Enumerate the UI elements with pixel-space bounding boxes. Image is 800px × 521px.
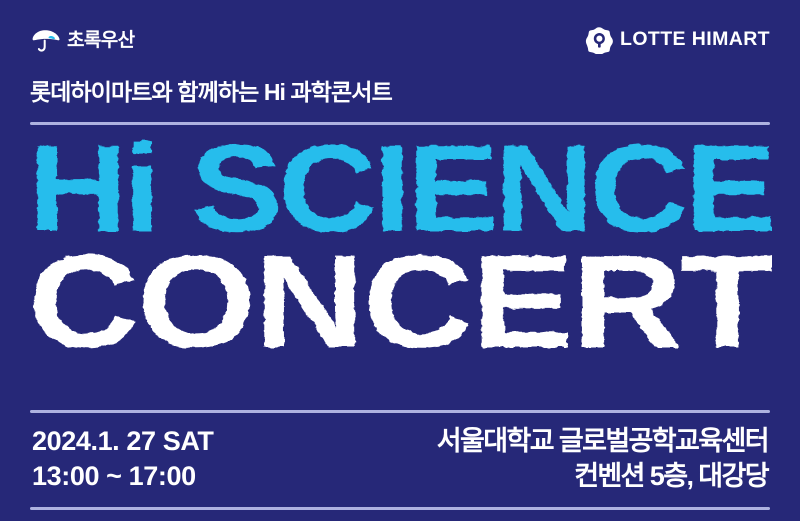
- lotte-himart-mark-icon: [585, 26, 613, 54]
- event-time: 13:00 ~ 17:00: [32, 459, 214, 494]
- event-date: 2024.1. 27 SAT: [32, 424, 214, 459]
- event-venue-line-2: 컨벤션 5층, 대강당: [437, 459, 768, 494]
- svg-text:Hi SCIENCE: Hi SCIENCE: [28, 133, 772, 251]
- event-poster: 초록우산 LOTTE HIMART 롯데하이마트와 함께하는 Hi 과학콘서트 …: [0, 0, 800, 521]
- event-datetime: 2024.1. 27 SAT 13:00 ~ 17:00: [32, 424, 214, 493]
- green-umbrella-logo-text: 초록우산: [67, 31, 135, 50]
- poster-footer: 2024.1. 27 SAT 13:00 ~ 17:00 서울대학교 글로벌공학…: [32, 424, 768, 500]
- green-umbrella-logo: 초록우산: [30, 27, 135, 53]
- green-umbrella-icon: [30, 27, 60, 53]
- logo-row: 초록우산 LOTTE HIMART: [30, 22, 770, 58]
- divider-middle: [30, 410, 770, 413]
- lotte-himart-logo-text: LOTTE HIMART: [620, 30, 770, 50]
- svg-text:CONCERT: CONCERT: [28, 245, 772, 367]
- poster-subtitle: 롯데하이마트와 함께하는 Hi 과학콘서트: [30, 80, 770, 105]
- poster-headline: Hi SCIENCE CONCERT: [28, 133, 772, 373]
- lotte-himart-logo: LOTTE HIMART: [585, 26, 770, 54]
- divider-top: [30, 122, 770, 125]
- event-venue: 서울대학교 글로벌공학교육센터 컨벤션 5층, 대강당: [437, 424, 768, 493]
- headline-line-hi-science: Hi SCIENCE: [28, 133, 772, 251]
- event-venue-line-1: 서울대학교 글로벌공학교육센터: [437, 424, 768, 459]
- divider-bottom: [30, 507, 770, 510]
- headline-line-concert: CONCERT: [28, 245, 772, 367]
